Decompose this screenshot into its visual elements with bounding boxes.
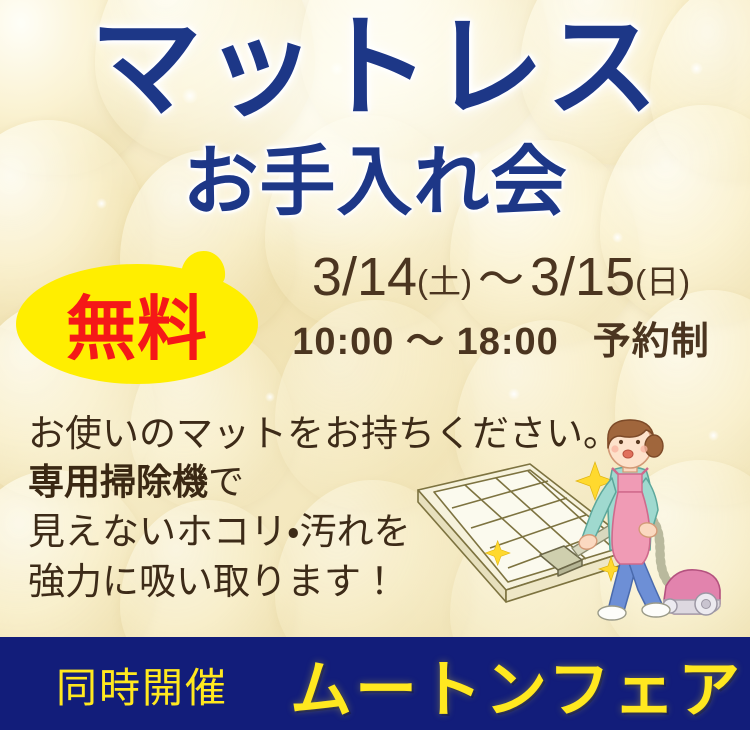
- schedule-block: 3/14(土)～3/15(日) 10:00 ～ 18:00予約制: [270, 250, 732, 361]
- vacuum-canister: [663, 570, 720, 615]
- banner-left-label: 同時開催: [56, 654, 228, 714]
- dow-start: (土): [417, 263, 472, 300]
- time-open: 10:00: [292, 321, 394, 363]
- body-line-2-strong: 専用掃除機: [28, 462, 208, 503]
- poster-root: マットレス お手入れ会 無料 3/14(土)～3/15(日) 10:00 ～ 1…: [0, 0, 750, 730]
- event-time-line: 10:00 ～ 18:00予約制: [270, 323, 732, 361]
- reservation-note: 予約制: [593, 321, 710, 363]
- date-start: 3/14: [312, 247, 417, 307]
- headline-group: マットレス お手入れ会: [0, 10, 750, 220]
- page-subtitle: お手入れ会: [0, 144, 750, 220]
- date-range-mark: ～: [472, 253, 530, 305]
- time-close: 18:00: [457, 321, 559, 363]
- free-badge: 無料: [16, 264, 258, 384]
- bottom-banner: 同時開催 ムートンフェア: [0, 637, 750, 730]
- badge-label: 無料: [16, 264, 258, 384]
- banner-right-label: ムートンフェア: [290, 639, 743, 729]
- event-date-line: 3/14(土)～3/15(日): [270, 250, 732, 304]
- dow-end: (日): [635, 263, 690, 300]
- cleaning-illustration: [412, 418, 742, 633]
- page-title: マットレス: [0, 10, 750, 126]
- body-line-2-rest: で: [208, 462, 244, 503]
- time-range-mark: ～: [406, 321, 445, 363]
- date-end: 3/15: [530, 247, 635, 307]
